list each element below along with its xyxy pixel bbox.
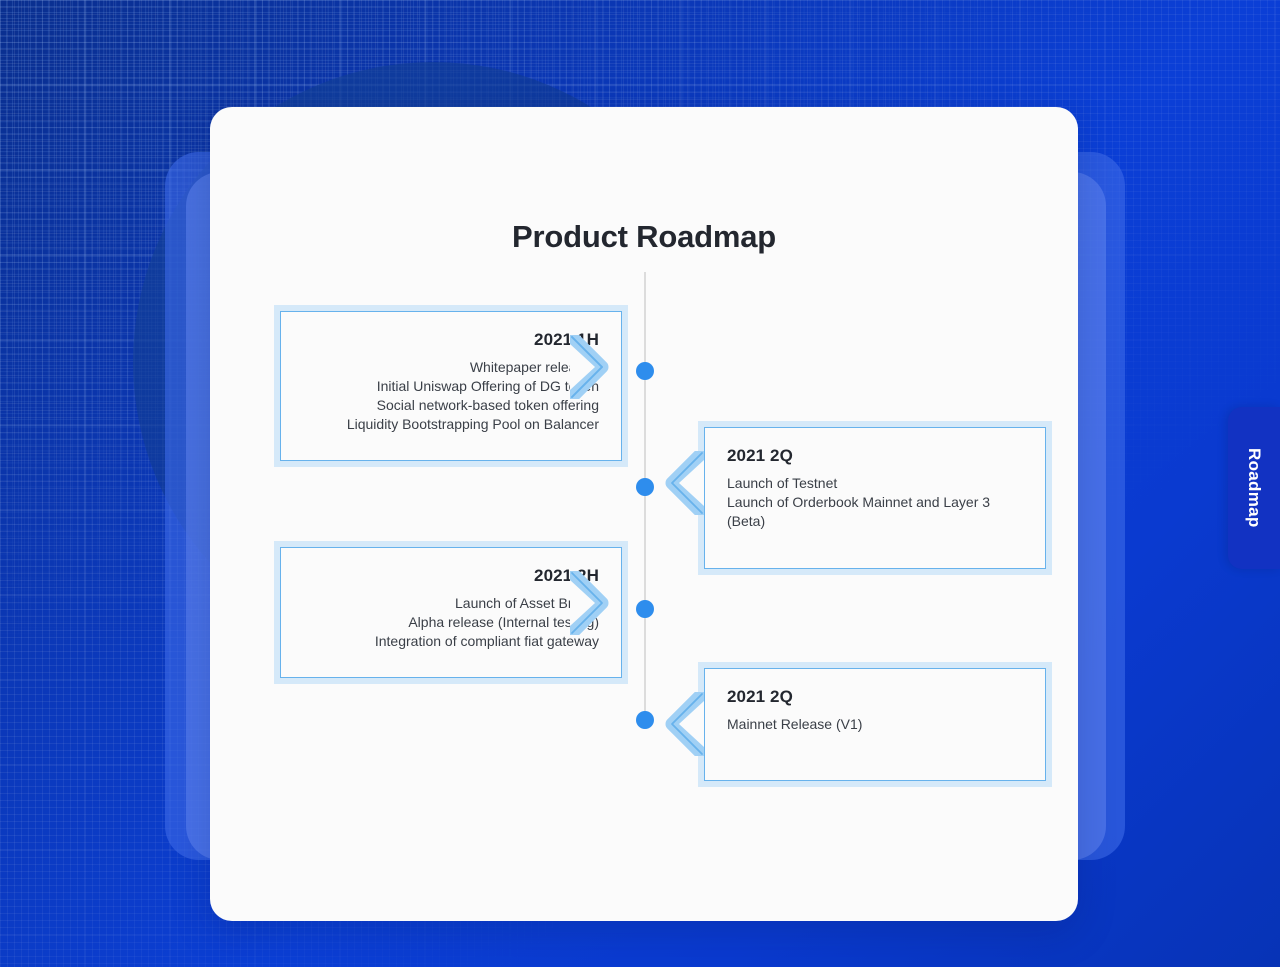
milestone-line: Launch of Testnet (727, 474, 1023, 493)
roadmap-stage: Roadmap Product Roadmap 2021 1H Whitepap… (0, 0, 1280, 967)
milestone-card-2[interactable]: 2021 2Q Launch of Testnet Launch of Orde… (704, 427, 1046, 569)
roadmap-card: Product Roadmap 2021 1H Whitepaper relea… (210, 107, 1078, 921)
milestone-line: Social network-based token offering (303, 396, 599, 415)
milestone-notch-left-2 (660, 451, 704, 515)
milestone-line: Launch of Asset Bridge (303, 594, 599, 613)
milestone-line: Launch of Orderbook Mainnet and Layer 3 … (727, 493, 1023, 531)
timeline-dot-4[interactable] (636, 711, 654, 729)
milestone-line: Liquidity Bootstrapping Pool on Balancer (303, 415, 599, 434)
side-tab-roadmap[interactable]: Roadmap (1228, 407, 1280, 569)
milestone-heading: 2021 1H (303, 330, 599, 350)
milestone-card-1[interactable]: 2021 1H Whitepaper released Initial Unis… (280, 311, 622, 461)
milestone-heading: 2021 2Q (727, 446, 1023, 466)
milestone-notch-left-4 (660, 692, 704, 756)
side-tab-label: Roadmap (1244, 448, 1264, 528)
milestone-line: Alpha release (Internal testing) (303, 613, 599, 632)
milestone-line: Initial Uniswap Offering of DG token (303, 377, 599, 396)
milestone-heading: 2021 2Q (727, 687, 1023, 707)
milestone-line: Mainnet Release (V1) (727, 715, 1023, 734)
timeline-dot-2[interactable] (636, 478, 654, 496)
milestone-line: Whitepaper released (303, 358, 599, 377)
milestone-card-3[interactable]: 2021 2H Launch of Asset Bridge Alpha rel… (280, 547, 622, 678)
milestone-card-4[interactable]: 2021 2Q Mainnet Release (V1) (704, 668, 1046, 781)
timeline-dot-1[interactable] (636, 362, 654, 380)
timeline-dot-3[interactable] (636, 600, 654, 618)
page-title: Product Roadmap (210, 219, 1078, 255)
timeline-axis (644, 272, 646, 720)
milestone-line: Integration of compliant fiat gateway (303, 632, 599, 651)
milestone-heading: 2021 2H (303, 566, 599, 586)
